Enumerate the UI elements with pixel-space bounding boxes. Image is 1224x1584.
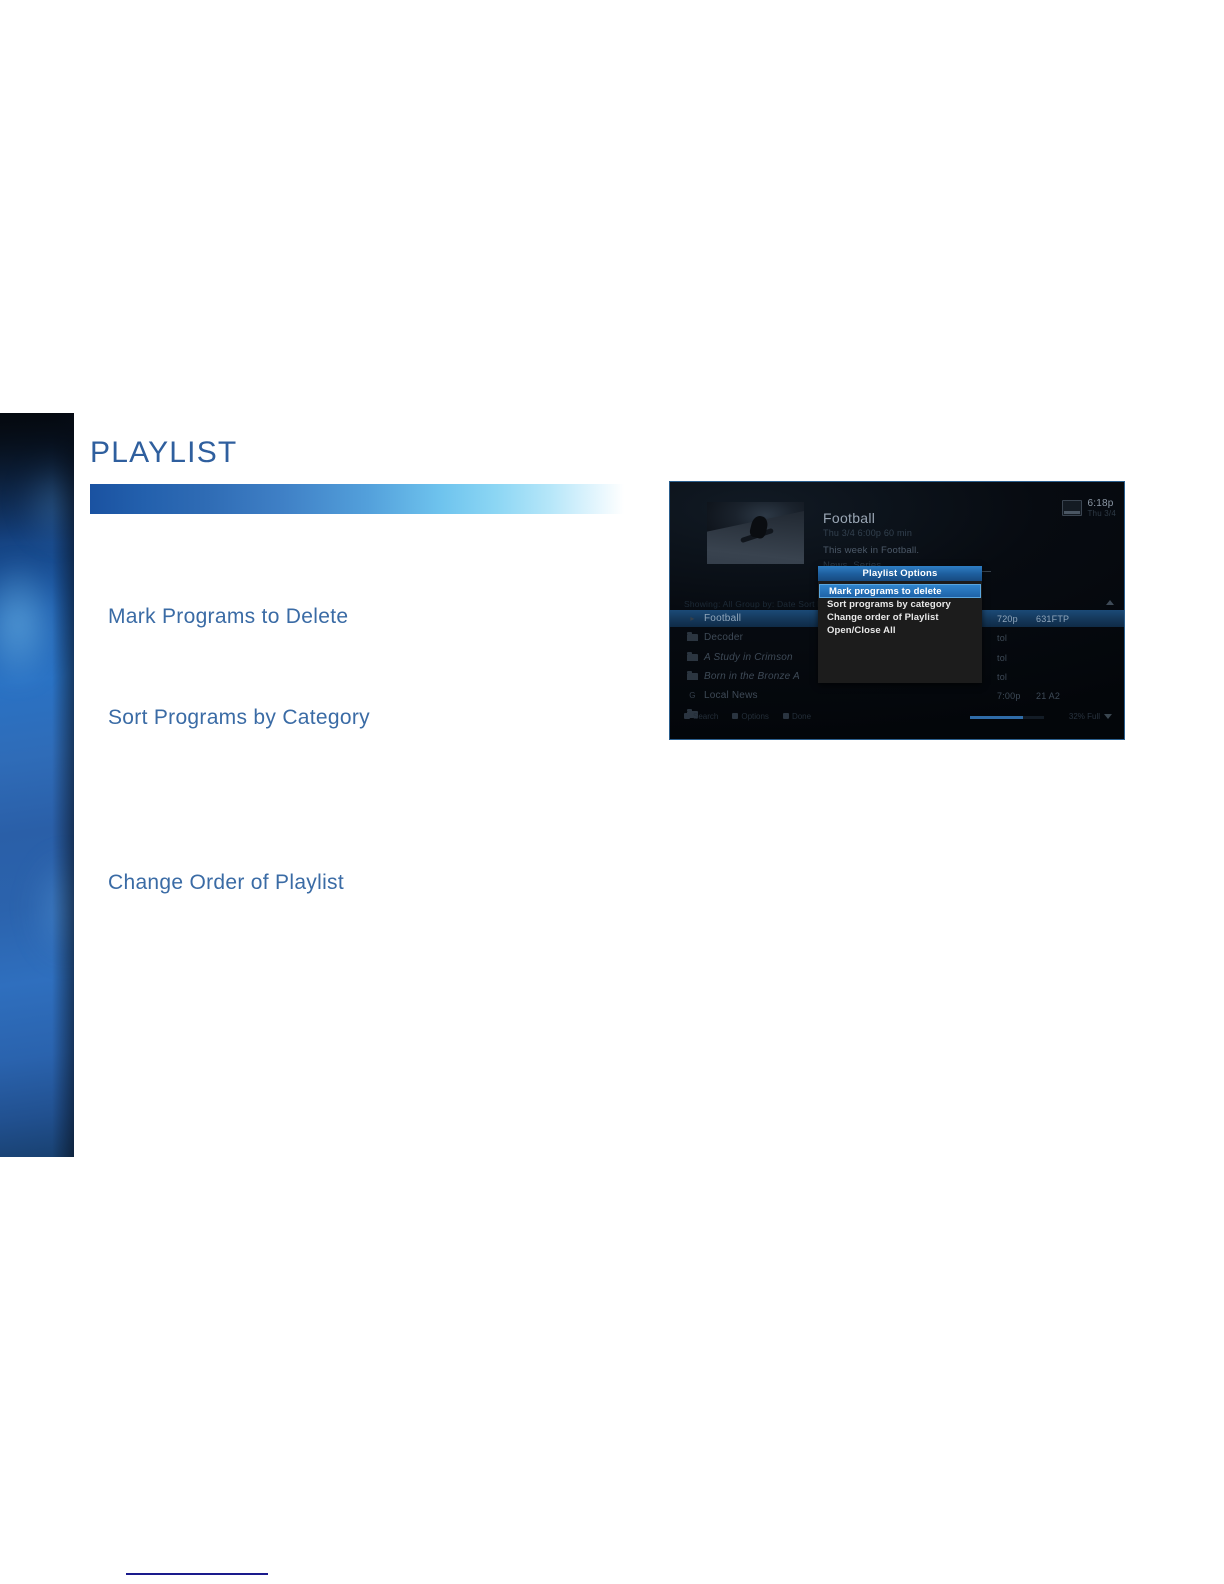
bottom-action-options[interactable]: Options: [732, 712, 769, 721]
list-item-channel: 631FTP: [1036, 614, 1069, 624]
search-icon: [684, 713, 690, 719]
list-item-title: Born in the Bronze A: [704, 671, 800, 682]
television-icon: [1062, 500, 1082, 516]
bottom-action-search[interactable]: Search: [684, 712, 718, 721]
list-item-time: 7:00p: [997, 691, 1021, 701]
menu-item-change-order-of-playlist[interactable]: Change order of Playlist: [818, 611, 982, 624]
recording-icon: ▸: [686, 614, 699, 623]
list-item-title: Football: [704, 613, 741, 624]
section-heading-sort-programs-by-category: Sort Programs by Category: [108, 706, 370, 730]
clock-date: Thu 3/4: [1087, 510, 1116, 518]
title-gradient-rule: [90, 484, 624, 514]
bottom-action-done[interactable]: Done: [783, 712, 811, 721]
folder-icon: [686, 673, 699, 680]
decorative-blue-strip: [0, 413, 74, 1157]
bottom-action-label: Done: [792, 712, 811, 721]
menu-item-mark-programs-to-delete[interactable]: Mark programs to delete: [819, 584, 981, 598]
group-icon: G: [686, 691, 699, 700]
footer-divider-rule: [126, 1573, 268, 1575]
scroll-up-arrow-icon[interactable]: [1106, 600, 1114, 605]
list-item-meta: tol: [997, 653, 1007, 663]
clock-cluster: 6:18p Thu 3/4: [1062, 499, 1116, 518]
dialog-menu-list: Mark programs to delete Sort programs by…: [818, 581, 982, 637]
bottom-action-label: Options: [741, 712, 769, 721]
page-title: PLAYLIST: [90, 436, 237, 470]
menu-item-open-close-all[interactable]: Open/Close All: [818, 624, 982, 637]
tv-ui-screenshot: Football Thu 3/4 6:00p 60 min This week …: [669, 481, 1125, 740]
done-icon: [783, 713, 789, 719]
list-item-title: Local News: [704, 690, 758, 701]
dialog-title: Playlist Options: [818, 566, 982, 581]
section-heading-mark-programs-to-delete: Mark Programs to Delete: [108, 605, 348, 629]
list-item-resolution: 720p: [997, 614, 1018, 624]
list-item-title: Decoder: [704, 632, 743, 643]
program-subtitle: Thu 3/4 6:00p 60 min: [823, 528, 912, 538]
chevron-down-icon[interactable]: [1104, 714, 1112, 719]
bottom-action-label: Search: [693, 712, 718, 721]
folder-icon: [686, 654, 699, 661]
program-title: Football: [823, 510, 875, 526]
list-item-title: A Study in Crimson: [704, 652, 793, 663]
list-item-channel: 21 A2: [1036, 691, 1060, 701]
strip-dark-right-fade: [52, 413, 74, 1157]
program-description: This week in Football.: [823, 545, 919, 556]
clock-time: 6:18p: [1087, 499, 1116, 510]
program-thumbnail: [707, 502, 804, 564]
options-icon: [732, 713, 738, 719]
playlist-options-dialog: Playlist Options Mark programs to delete…: [818, 566, 982, 683]
disk-usage-label: 32% Full: [1069, 712, 1100, 721]
table-row[interactable]: G Local News 7:00p 21 A2: [670, 687, 1124, 704]
bottom-action-bar: Search Options Done: [670, 707, 1124, 725]
disk-usage-fill: [970, 716, 1023, 719]
folder-icon: [686, 634, 699, 641]
disk-usage-progress-bar: [970, 716, 1044, 719]
list-item-meta: tol: [997, 672, 1007, 682]
menu-item-sort-programs-by-category[interactable]: Sort programs by category: [818, 598, 982, 611]
list-item-meta: tol: [997, 633, 1007, 643]
section-heading-change-order-of-playlist: Change Order of Playlist: [108, 871, 344, 895]
clock-text: 6:18p Thu 3/4: [1087, 499, 1116, 518]
